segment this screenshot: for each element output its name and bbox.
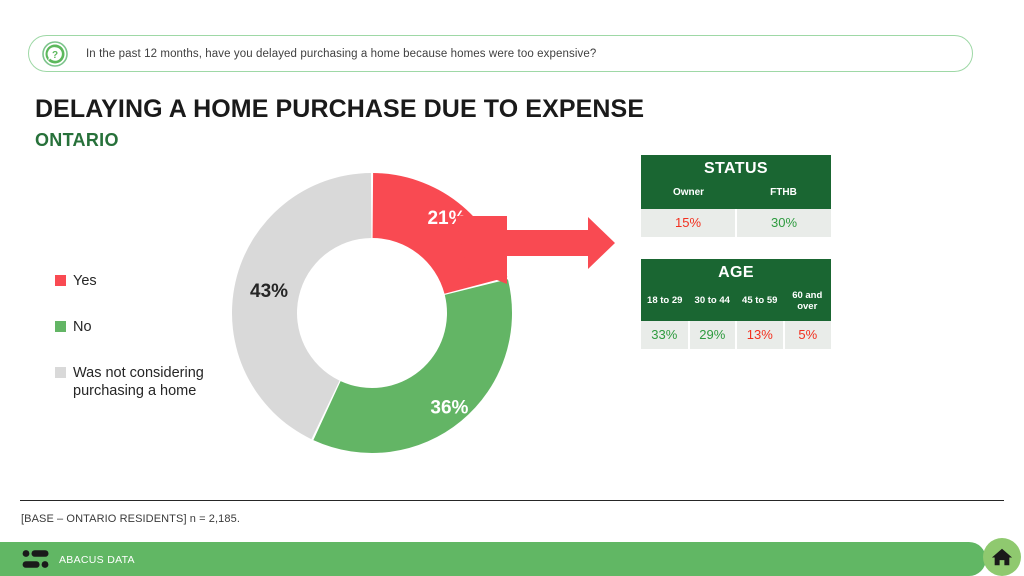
status-table-title: STATUS xyxy=(641,155,831,183)
age-value-45-59: 13% xyxy=(736,321,784,349)
legend-swatch-no xyxy=(55,321,66,332)
age-header-45-59: 45 to 59 xyxy=(736,287,784,321)
donut-slice xyxy=(313,279,512,453)
age-value-30-44: 29% xyxy=(689,321,737,349)
base-note: [BASE – ONTARIO RESIDENTS] n = 2,185. xyxy=(21,513,240,525)
table-row: AGE xyxy=(641,259,831,287)
table-row: 33% 29% 13% 5% xyxy=(641,321,831,349)
question-text: In the past 12 months, have you delayed … xyxy=(86,48,596,60)
legend-label-not-considering: Was not considering purchasing a home xyxy=(73,364,218,400)
home-icon xyxy=(991,546,1013,568)
table-row: 15% 30% xyxy=(641,209,831,237)
age-table: AGE 18 to 29 30 to 44 45 to 59 60 and ov… xyxy=(641,259,831,349)
age-value-60-plus: 5% xyxy=(784,321,832,349)
abacus-logo-icon xyxy=(22,549,50,569)
legend-swatch-yes xyxy=(55,275,66,286)
callout-arrow-icon xyxy=(455,212,620,287)
table-row: Owner FTHB xyxy=(641,183,831,209)
donut-chart: 21%36%43% xyxy=(212,153,532,473)
donut-slice-label: 36% xyxy=(430,398,468,419)
question-bubble-icon: ? xyxy=(42,41,68,67)
footer-divider xyxy=(20,500,1004,501)
status-header-fthb: FTHB xyxy=(736,183,831,209)
status-table: STATUS Owner FTHB 15% 30% xyxy=(641,155,831,237)
status-header-owner: Owner xyxy=(641,183,736,209)
age-header-18-29: 18 to 29 xyxy=(641,287,689,321)
question-banner: ? In the past 12 months, have you delaye… xyxy=(28,35,973,72)
footer-brand: ABACUS DATA xyxy=(59,554,135,566)
age-header-60-plus: 60 and over xyxy=(784,287,832,321)
age-table-title: AGE xyxy=(641,259,831,287)
donut-slice-label: 43% xyxy=(250,281,288,302)
home-button[interactable] xyxy=(983,538,1021,576)
table-row: STATUS xyxy=(641,155,831,183)
page-subtitle: ONTARIO xyxy=(35,130,119,151)
svg-text:?: ? xyxy=(52,50,58,61)
legend-swatch-not-considering xyxy=(55,367,66,378)
table-row: 18 to 29 30 to 44 45 to 59 60 and over xyxy=(641,287,831,321)
age-value-18-29: 33% xyxy=(641,321,689,349)
status-value-owner: 15% xyxy=(641,209,736,237)
footer-bar xyxy=(0,542,986,576)
status-value-fthb: 30% xyxy=(736,209,831,237)
age-header-30-44: 30 to 44 xyxy=(689,287,737,321)
legend-label-yes: Yes xyxy=(73,272,97,290)
legend-label-no: No xyxy=(73,318,92,336)
page-title: DELAYING A HOME PURCHASE DUE TO EXPENSE xyxy=(35,95,644,124)
